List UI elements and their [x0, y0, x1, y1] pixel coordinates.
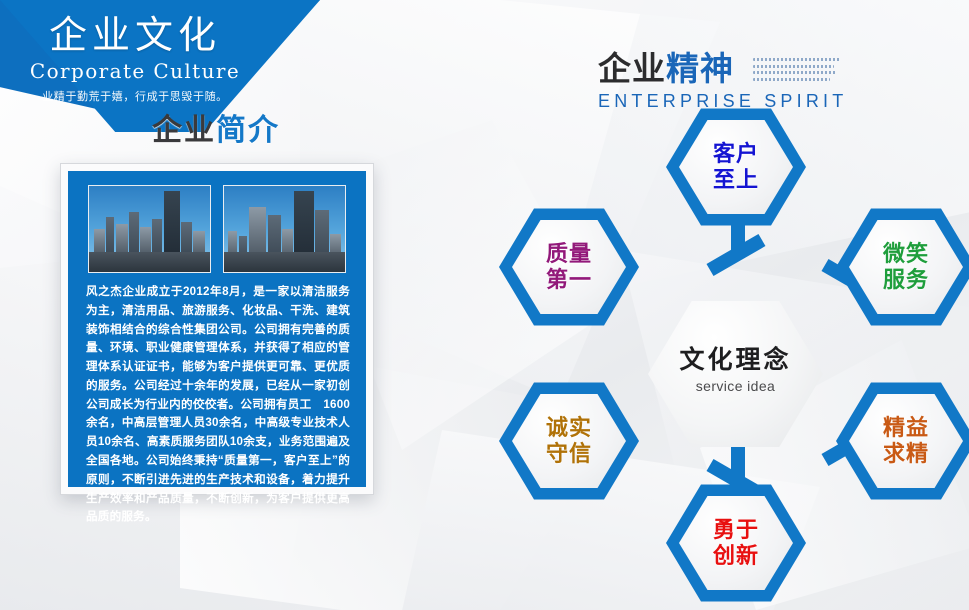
spirit-heading: 企业精神 ENTERPRISE SPIRIT	[598, 52, 847, 112]
photo-ground	[89, 252, 210, 272]
hex-node-upper-right[interactable]: 微笑 服务	[836, 206, 969, 328]
spirit-heading-en: ENTERPRISE SPIRIT	[598, 91, 847, 112]
hex-label: 客户 至上	[666, 106, 806, 228]
poster-canvas: 企业文化 Corporate Culture 业精于勤荒于嬉，行成于思毁于随。 …	[0, 0, 969, 610]
hex-node-lower-right[interactable]: 精益 求精	[836, 380, 969, 502]
photo-building	[294, 191, 313, 260]
hex-label-line2: 至上	[713, 167, 759, 193]
banner-subtitle: 业精于勤荒于嬉，行成于思毁于随。	[0, 88, 270, 104]
photo-building	[129, 212, 139, 257]
hex-node-bottom[interactable]: 勇于 创新	[666, 482, 806, 604]
intro-heading-blue: 简介	[216, 114, 280, 147]
hex-node-top[interactable]: 客户 至上	[666, 106, 806, 228]
banner-title-cn: 企业文化	[0, 14, 270, 58]
city-skyline-photo	[88, 185, 211, 273]
intro-card-frame: 风之杰企业成立于2012年8月，是一家以清洁服务为主，清洁用品、旅游服务、化妆品…	[60, 163, 374, 495]
hex-label-line2: 服务	[883, 267, 929, 293]
hex-label-line1: 微笑	[883, 241, 929, 267]
hex-center-title-cn: 文化理念	[648, 340, 823, 376]
hex-center-title-en: service idea	[648, 378, 823, 394]
banner-text-group: 企业文化 Corporate Culture 业精于勤荒于嬉，行成于思毁于随。	[0, 14, 270, 104]
hex-label-line1: 客户	[713, 141, 759, 167]
spirit-heading-cn: 企业精神	[598, 52, 847, 85]
spirit-heading-blue: 精神	[666, 50, 734, 87]
intro-body-text: 风之杰企业成立于2012年8月，是一家以清洁服务为主，清洁用品、旅游服务、化妆品…	[86, 283, 350, 527]
hex-center: 文化理念 service idea	[648, 298, 823, 450]
photo-ground	[224, 252, 345, 272]
intro-heading-dark: 企业	[152, 114, 216, 147]
intro-card: 风之杰企业成立于2012年8月，是一家以清洁服务为主，清洁用品、旅游服务、化妆品…	[68, 171, 366, 487]
hex-label-line1: 精益	[883, 415, 929, 441]
hex-label-line2: 求精	[883, 441, 929, 467]
hex-node-lower-left[interactable]: 诚实 守信	[499, 380, 639, 502]
hex-label-line1: 诚实	[546, 415, 592, 441]
hex-node-upper-left[interactable]: 质量 第一	[499, 206, 639, 328]
photo-building	[152, 219, 162, 257]
hex-label: 勇于 创新	[666, 482, 806, 604]
hexagon-diagram: 文化理念 service idea 客户 至上 微笑 服务	[500, 108, 969, 610]
banner-title-en: Corporate Culture	[0, 59, 270, 83]
hex-label-line1: 质量	[546, 241, 592, 267]
hex-label: 质量 第一	[499, 206, 639, 328]
photo-building	[164, 191, 180, 256]
hex-label: 诚实 守信	[499, 380, 639, 502]
hex-label-line2: 守信	[546, 441, 592, 467]
hex-label: 微笑 服务	[836, 206, 969, 328]
spirit-heading-dark: 企业	[598, 50, 666, 87]
office-towers-photo	[223, 185, 346, 273]
photo-building	[106, 217, 114, 257]
hex-label-line2: 第一	[546, 267, 592, 293]
intro-heading: 企业简介	[152, 116, 280, 146]
hex-label-line2: 创新	[713, 543, 759, 569]
hex-label: 精益 求精	[836, 380, 969, 502]
hex-label-line1: 勇于	[713, 517, 759, 543]
decorative-lines-icon	[753, 58, 841, 84]
intro-photo-row	[88, 185, 346, 273]
